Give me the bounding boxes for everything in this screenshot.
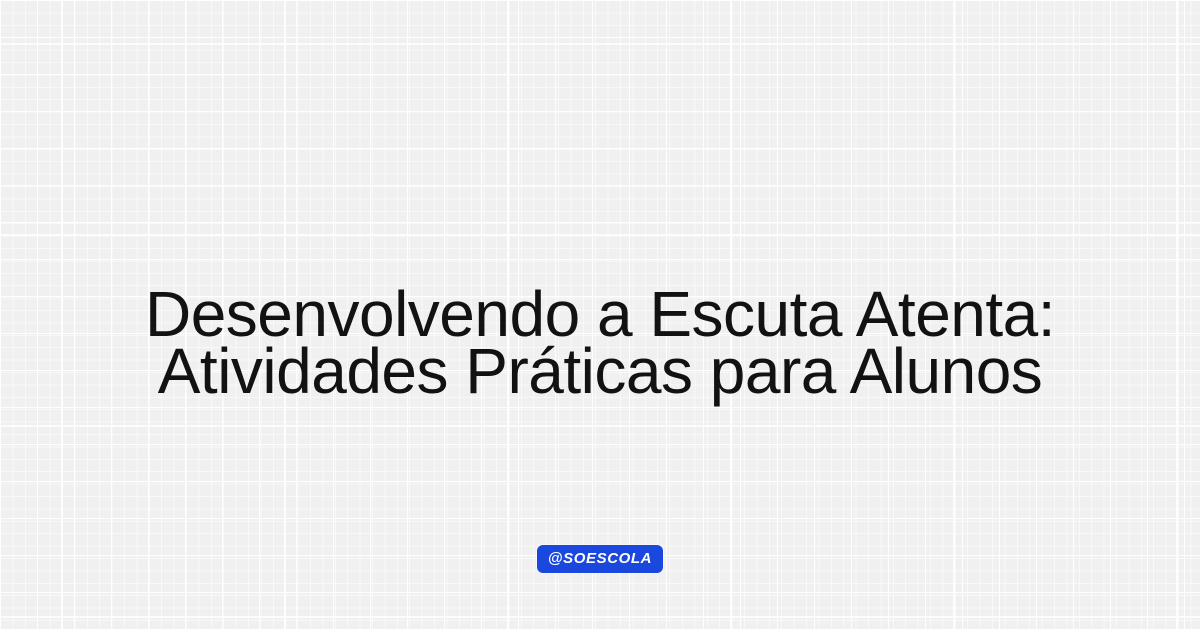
page-title-line-2: Atividades Práticas para Alunos [60,343,1140,400]
watermark-badge-soescola: @SOESCOLA [537,545,663,573]
social-share-card: Desenvolvendo a Escuta Atenta: Atividade… [0,0,1200,630]
page-title: Desenvolvendo a Escuta Atenta: Atividade… [0,286,1200,400]
watermark-row: @SOESCOLA [0,545,1200,573]
